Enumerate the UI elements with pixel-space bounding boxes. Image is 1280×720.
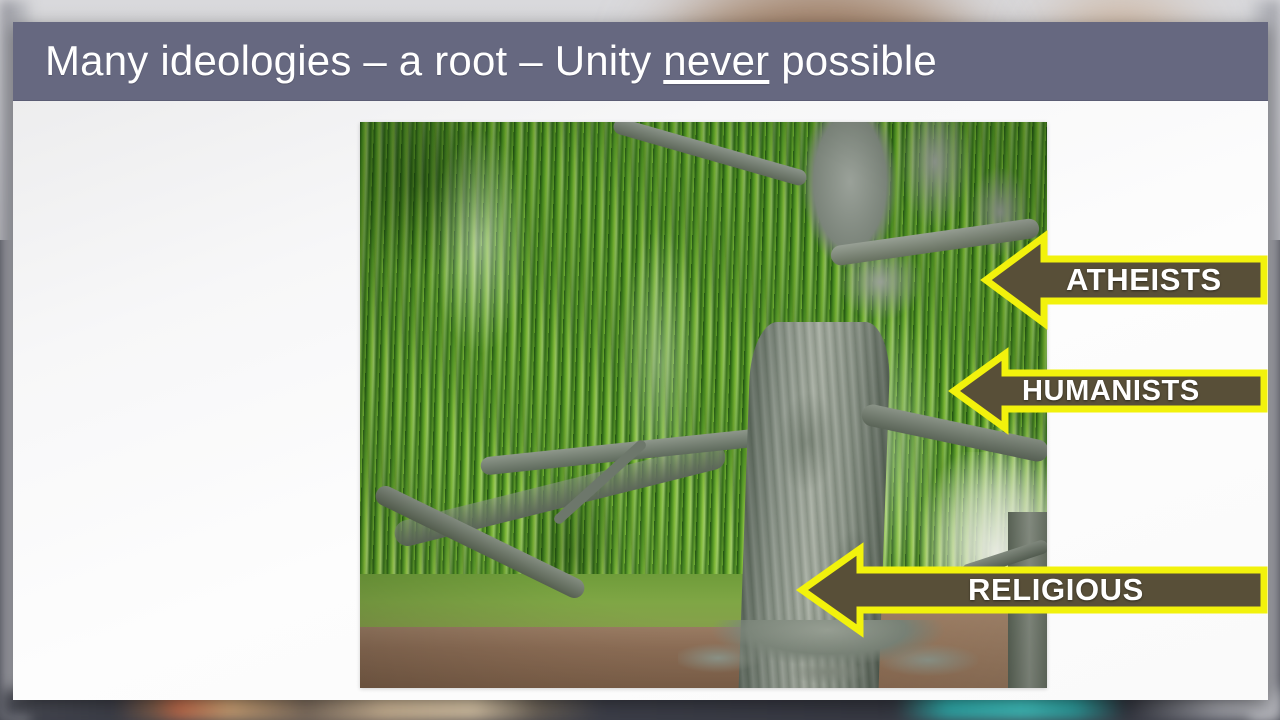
slide-title-prefix: Many ideologies – a root – Unity (45, 37, 663, 84)
callout-label: HUMANISTS (1022, 375, 1200, 408)
slide-body: ATHEISTS HUMANISTS RELIGIOUS (13, 101, 1268, 700)
presentation-slide: Many ideologies – a root – Unity never p… (13, 22, 1268, 700)
callout-religious[interactable]: RELIGIOUS (798, 545, 1268, 635)
slide-title-emphasis: never (663, 37, 769, 84)
slide-title-bar: Many ideologies – a root – Unity never p… (13, 22, 1268, 101)
callout-label: ATHEISTS (1066, 262, 1222, 298)
slide-title-suffix: possible (769, 37, 937, 84)
slide-title: Many ideologies – a root – Unity never p… (45, 37, 937, 85)
callout-humanists[interactable]: HUMANISTS (950, 350, 1268, 432)
callout-atheists[interactable]: ATHEISTS (982, 232, 1268, 328)
callout-label: RELIGIOUS (968, 572, 1144, 608)
